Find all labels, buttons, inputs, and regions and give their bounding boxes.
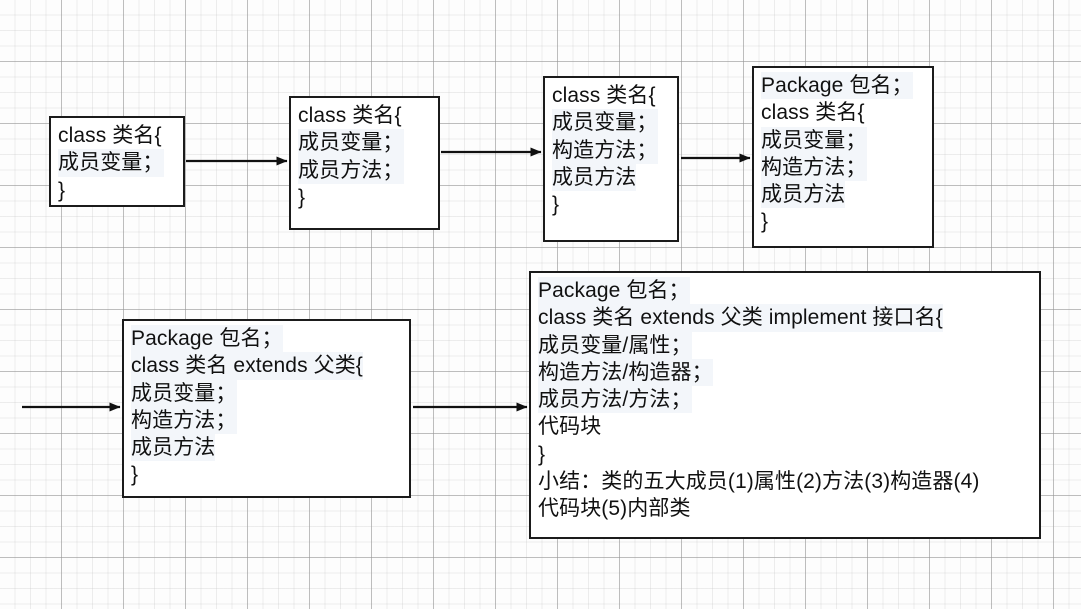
- node-text-line: 成员方法: [552, 164, 636, 191]
- node-text-line: 代码块(5)内部类: [538, 495, 1033, 522]
- node-text-line: Package 包名；: [131, 325, 283, 352]
- node-text-line: }: [552, 191, 671, 218]
- node-text-line: 构造方法/构造器；: [538, 359, 713, 386]
- node-text-line: class 类名 extends 父类 implement 接口名{: [538, 304, 943, 331]
- node-text-line: 成员变量；: [58, 149, 164, 176]
- node-class-with-extends[interactable]: Package 包名；class 类名 extends 父类{成员变量；构造方法…: [122, 319, 411, 498]
- node-text-line: Package 包名；: [538, 277, 690, 304]
- node-text-line: 成员方法；: [298, 157, 404, 184]
- node-class-with-implement-summary[interactable]: Package 包名；class 类名 extends 父类 implement…: [529, 271, 1041, 539]
- node-text-line: }: [761, 208, 926, 235]
- node-text-line: class 类名{: [761, 99, 926, 126]
- node-text-line: 成员方法: [131, 434, 215, 461]
- node-text-line: 代码块: [538, 413, 1033, 440]
- diagram-canvas: class 类名{成员变量；} class 类名{成员变量；成员方法；} cla…: [0, 0, 1081, 609]
- node-text-line: }: [538, 441, 1033, 468]
- node-class-with-fields[interactable]: class 类名{成员变量；}: [49, 116, 185, 207]
- node-text-line: 成员变量/属性；: [538, 332, 692, 359]
- node-text-line: 成员变量；: [298, 129, 404, 156]
- node-text-line: }: [131, 461, 403, 488]
- node-text-line: 成员变量；: [552, 109, 658, 136]
- node-text-line: }: [298, 184, 432, 211]
- node-text-line: }: [58, 177, 177, 204]
- node-class-with-constructor[interactable]: class 类名{成员变量；构造方法；成员方法}: [543, 76, 679, 242]
- node-text-line: 小结：类的五大成员(1)属性(2)方法(3)构造器(4): [538, 468, 1033, 495]
- node-text-line: class 类名{: [298, 102, 432, 129]
- node-text-line: class 类名{: [552, 82, 671, 109]
- node-text-line: 成员方法/方法；: [538, 386, 692, 413]
- node-text-line: 成员变量；: [131, 380, 237, 407]
- node-class-with-package[interactable]: Package 包名；class 类名{成员变量；构造方法；成员方法}: [752, 66, 934, 248]
- node-text-line: 成员变量；: [761, 127, 867, 154]
- node-text-line: class 类名{: [58, 122, 177, 149]
- node-text-line: 构造方法；: [761, 154, 867, 181]
- node-text-line: Package 包名；: [761, 72, 913, 99]
- node-text-line: 构造方法；: [552, 137, 658, 164]
- node-text-line: 构造方法；: [131, 407, 237, 434]
- node-text-line: 成员方法: [761, 181, 845, 208]
- node-class-with-fields-methods[interactable]: class 类名{成员变量；成员方法；}: [289, 96, 440, 230]
- node-text-line: class 类名 extends 父类{: [131, 352, 363, 379]
